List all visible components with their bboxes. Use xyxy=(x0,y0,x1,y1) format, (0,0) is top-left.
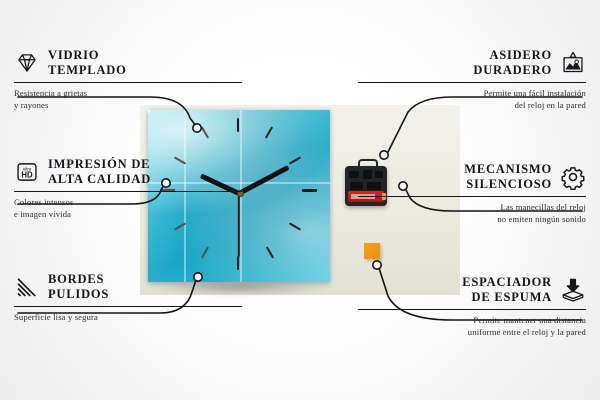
feature-description: Colores intensos e imagen vívida xyxy=(14,196,242,220)
ultra-hd-icon: ultra HD xyxy=(14,159,40,185)
feature-divider xyxy=(358,309,586,310)
desc-line-2: y rayones xyxy=(14,99,242,111)
hd-icon-large-text: HD xyxy=(21,171,33,180)
title-line-2: DE ESPUMA xyxy=(462,290,552,305)
title-line-1: IMPRESIÓN DE xyxy=(48,157,151,172)
feature-title: MECANISMO SILENCIOSO xyxy=(464,162,552,193)
desc-line-2: no emiten ningún sonido xyxy=(358,213,586,225)
title-line-2: TEMPLADO xyxy=(48,63,127,78)
feature-impresion: ultra HD IMPRESIÓN DE ALTA CALIDAD Color… xyxy=(14,157,242,220)
diamond-icon xyxy=(14,50,40,76)
feature-title: VIDRIO TEMPLADO xyxy=(48,48,127,79)
hour-tick-12 xyxy=(237,118,239,132)
title-line-1: ESPACIADOR xyxy=(462,275,552,290)
feature-title: ESPACIADOR DE ESPUMA xyxy=(462,275,552,306)
feature-espaciador: ESPACIADOR DE ESPUMA Permite mantener un… xyxy=(358,275,586,338)
gear-icon xyxy=(560,164,586,190)
desc-line-1: Resistencia a grietas xyxy=(14,87,242,99)
feature-header: VIDRIO TEMPLADO xyxy=(14,48,242,79)
feature-divider xyxy=(14,191,242,192)
feature-divider xyxy=(358,196,586,197)
title-line-1: BORDES xyxy=(48,272,109,287)
feature-description: Permite mantener una distancia uniforme … xyxy=(358,314,586,338)
feature-divider xyxy=(14,82,242,83)
feature-vidrio: VIDRIO TEMPLADO Resistencia a grietas y … xyxy=(14,48,242,111)
feature-header: ASIDERO DURADERO xyxy=(358,48,586,79)
desc-line-1: Colores intensos xyxy=(14,196,242,208)
feature-description: Resistencia a grietas y rayones xyxy=(14,87,242,111)
title-line-1: ASIDERO xyxy=(473,48,552,63)
foam-spacer-part xyxy=(364,243,380,259)
desc-line-2: del reloj en la pared xyxy=(358,99,586,111)
feature-description: Superficie lisa y segura xyxy=(14,311,242,323)
wall-frame-hanger-icon xyxy=(560,50,586,76)
hour-tick-3 xyxy=(302,189,317,192)
feature-description: Permite una fácil instalación del reloj … xyxy=(358,87,586,111)
foam-spacer-icon xyxy=(560,277,586,303)
feature-title: BORDES PULIDOS xyxy=(48,272,109,303)
feature-title: ASIDERO DURADERO xyxy=(473,48,552,79)
polished-edges-icon xyxy=(14,274,40,300)
title-line-2: SILENCIOSO xyxy=(464,177,552,192)
hour-tick-6 xyxy=(237,256,239,270)
feature-header: ultra HD IMPRESIÓN DE ALTA CALIDAD xyxy=(14,157,242,188)
title-line-1: VIDRIO xyxy=(48,48,127,63)
feature-title: IMPRESIÓN DE ALTA CALIDAD xyxy=(48,157,151,188)
title-line-1: MECANISMO xyxy=(464,162,552,177)
desc-line-2: uniforme entre el reloj y la pared xyxy=(358,326,586,338)
feature-divider xyxy=(358,82,586,83)
desc-line-1: Las manecillas del reloj xyxy=(358,201,586,213)
desc-line-1: Permite mantener una distancia xyxy=(358,314,586,326)
title-line-2: ALTA CALIDAD xyxy=(48,172,151,187)
feature-header: MECANISMO SILENCIOSO xyxy=(358,162,586,193)
feature-mecanismo: MECANISMO SILENCIOSO Las manecillas del … xyxy=(358,162,586,225)
infographic-canvas: VIDRIO TEMPLADO Resistencia a grietas y … xyxy=(0,0,600,400)
feature-description: Las manecillas del reloj no emiten ningú… xyxy=(358,201,586,225)
desc-line-1: Permite una fácil instalación xyxy=(358,87,586,99)
desc-line-1: Superficie lisa y segura xyxy=(14,311,242,323)
feature-bordes: BORDES PULIDOS Superficie lisa y segura xyxy=(14,272,242,323)
feature-header: BORDES PULIDOS xyxy=(14,272,242,303)
title-line-2: DURADERO xyxy=(473,63,552,78)
title-line-2: PULIDOS xyxy=(48,287,109,302)
desc-line-2: e imagen vívida xyxy=(14,208,242,220)
feature-divider xyxy=(14,306,242,307)
feature-asidero: ASIDERO DURADERO Permite una fácil insta… xyxy=(358,48,586,111)
feature-header: ESPACIADOR DE ESPUMA xyxy=(358,275,586,306)
